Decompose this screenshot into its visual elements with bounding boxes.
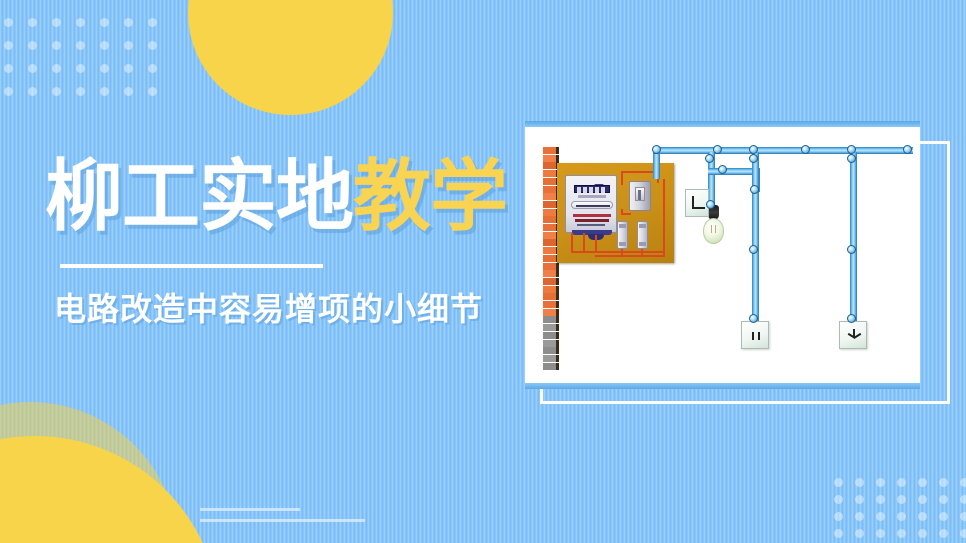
socket-slot [752, 332, 754, 340]
decorative-dot [100, 87, 109, 96]
accent-line-2 [200, 519, 365, 522]
breaker-lever-slot [638, 190, 641, 200]
page-title: 柳工实地教学 [45, 157, 507, 235]
meter-dial-needle [576, 205, 610, 207]
decorative-dot [28, 64, 37, 73]
switch-rocker-horizontal [692, 207, 705, 209]
decorative-dot [918, 495, 927, 504]
conduit-joint [749, 145, 758, 154]
decorative-dot [52, 87, 61, 96]
conduit-joint [705, 154, 714, 163]
decorative-dot [28, 87, 37, 96]
decorative-dot [918, 529, 927, 538]
decorative-dot [4, 18, 13, 27]
wire-red [621, 209, 623, 215]
decorative-dot [897, 529, 906, 538]
decorative-dot [4, 87, 13, 96]
decorative-dot [76, 41, 85, 50]
decorative-dot [148, 41, 157, 50]
decorative-dot [939, 478, 948, 487]
bulb-filament [711, 225, 716, 233]
decorative-dot [897, 495, 906, 504]
accent-line-1 [200, 508, 300, 511]
brick-orange [543, 263, 559, 270]
wire-red [595, 235, 597, 253]
page-title-segment-yellow: 教学 [353, 152, 507, 240]
conduit-joint [847, 154, 856, 163]
circuit-diagram-photo [525, 121, 920, 389]
brick-orange [543, 155, 559, 162]
page-subtitle: 电路改造中容易增项的小细节 [54, 284, 483, 330]
decorative-dot [855, 495, 864, 504]
socket-three-pin [839, 321, 867, 349]
decorative-dot [148, 87, 157, 96]
decorative-dot [834, 512, 843, 521]
socket-slot [758, 332, 760, 340]
title-divider [60, 264, 323, 268]
decorative-dot [834, 478, 843, 487]
brick-orange [543, 293, 559, 300]
conduit-joint [801, 145, 810, 154]
decorative-dot [960, 529, 966, 538]
conduit-joint [706, 200, 715, 209]
brick-gray [543, 363, 559, 370]
conduit-joint [847, 245, 856, 254]
meter-dial [571, 201, 613, 209]
brick-gray [543, 332, 559, 339]
decorative-dot [52, 41, 61, 50]
decorative-dot [76, 87, 85, 96]
decorative-dot [855, 478, 864, 487]
decorative-dot [897, 512, 906, 521]
meter-text-line-1 [573, 214, 611, 217]
decorative-dot [124, 64, 133, 73]
fuse-left [617, 221, 628, 249]
brick-gray [543, 324, 559, 331]
meter-text-line-2 [575, 219, 609, 222]
decorative-dot [76, 18, 85, 27]
decorative-dot [918, 478, 927, 487]
decorative-dot [124, 87, 133, 96]
meter-label-bar [578, 195, 606, 198]
conduit-socket1-drop [752, 152, 759, 324]
decorative-dot [148, 64, 157, 73]
meter-digit-display [574, 185, 610, 193]
decorative-dot [876, 478, 885, 487]
conduit-joint [903, 145, 912, 154]
conduit-joint [749, 245, 758, 254]
decorative-dot [960, 478, 966, 487]
decorative-dot [939, 495, 948, 504]
socket-two-pin [741, 321, 769, 349]
wire-red [583, 233, 585, 253]
poster-canvas: 柳工实地教学 电路改造中容易增项的小细节 [0, 0, 966, 543]
brick-gray [543, 347, 559, 354]
decorative-dot [939, 529, 948, 538]
conduit-joint [652, 145, 661, 154]
wire-red [595, 255, 663, 257]
conduit-riser-main [653, 151, 660, 179]
decorative-dot [834, 495, 843, 504]
wire-red [663, 179, 665, 257]
conduit-main-horizontal [653, 147, 913, 154]
decorative-dot [148, 18, 157, 27]
brick-gray [543, 340, 559, 347]
brick-orange [543, 286, 559, 293]
fuse-right [637, 221, 648, 249]
brick-gray [543, 355, 559, 362]
brick-orange [543, 278, 559, 285]
decorative-dot [52, 18, 61, 27]
conduit-joint [847, 145, 856, 154]
wire-red [621, 171, 623, 185]
page-title-segment-white: 柳工实地 [45, 152, 353, 240]
conduit-joint [749, 314, 758, 323]
meter-text-line-3 [577, 224, 605, 226]
decorative-dot [834, 529, 843, 538]
decorative-dot [855, 512, 864, 521]
decorative-dot [4, 64, 13, 73]
decorative-circle-top [188, 0, 393, 115]
decorative-dot [100, 64, 109, 73]
decorative-dot [52, 64, 61, 73]
decorative-dot [960, 512, 966, 521]
conduit-joint [713, 145, 722, 154]
decorative-dot [939, 512, 948, 521]
decorative-dot [960, 495, 966, 504]
brick-orange [543, 147, 559, 154]
conduit-joint [847, 314, 856, 323]
decorative-dot [4, 41, 13, 50]
wire-red [571, 233, 573, 253]
brick-orange [543, 270, 559, 277]
decorative-dot [28, 18, 37, 27]
decorative-dot [918, 512, 927, 521]
circuit-diagram-content [525, 121, 920, 389]
decorative-dot [100, 18, 109, 27]
decorative-dot [76, 64, 85, 73]
conduit-joint [718, 165, 727, 174]
decorative-dot [124, 18, 133, 27]
decorative-dot [876, 495, 885, 504]
brick-gray [543, 316, 559, 323]
conduit-joint [750, 185, 759, 194]
decorative-dot [124, 41, 133, 50]
decorative-dot [897, 478, 906, 487]
decorative-dot [100, 41, 109, 50]
decorative-dot [28, 41, 37, 50]
photo-edge-bottom [525, 383, 920, 389]
circuit-breaker [629, 181, 651, 211]
decorative-dot [876, 512, 885, 521]
conduit-socket2-drop [850, 152, 857, 324]
electric-meter [565, 175, 617, 233]
decorative-dot [876, 529, 885, 538]
brick-orange [543, 309, 559, 316]
decorative-dot [855, 529, 864, 538]
decorative-circle-bottom-front [0, 436, 220, 543]
brick-orange [543, 301, 559, 308]
conduit-joint [749, 154, 758, 163]
